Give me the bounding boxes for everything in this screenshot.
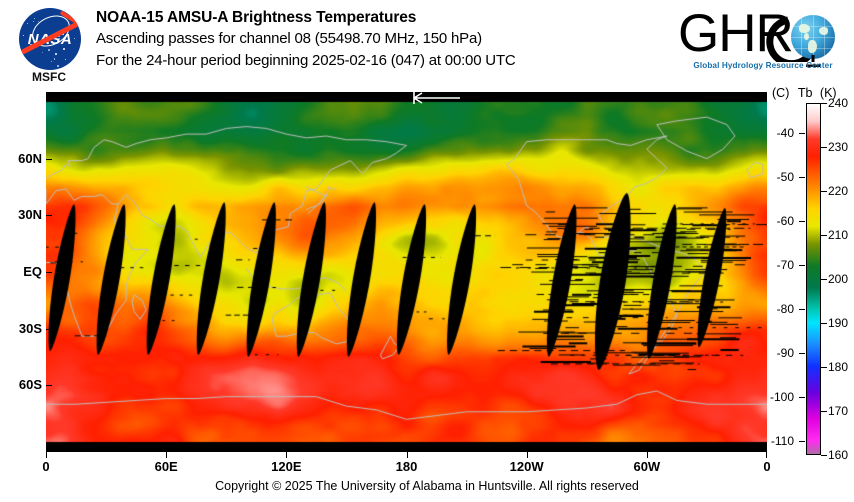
colorbar-kelvin-label: 230 [828,140,848,154]
latitude-label: 60N [0,151,42,166]
longitude-label: 120W [510,459,544,474]
title-subtitle-channel: Ascending passes for channel 08 (55498.7… [96,28,656,50]
colorbar-kelvin-tick [821,103,827,104]
colorbar-celsius-tick [799,265,805,266]
colorbar-celsius-label: -40 [777,126,794,140]
colorbar-celsius-tick [799,353,805,354]
colorbar-kelvin-label: 220 [828,184,848,198]
colorbar-celsius-unit: (C) [772,86,789,100]
longitude-tick [766,452,767,458]
ghrc-logo: GHR Global Hydrology Resource Center [676,4,846,82]
msfc-label: MSFC [13,70,85,84]
colorbar-kelvin-tick [821,411,827,412]
longitude-label: 0 [42,459,49,474]
latitude-label: 60S [0,377,42,392]
latitude-tick [46,159,52,160]
colorbar-kelvin-tick [821,235,827,236]
longitude-axis: 060E120E180120W60W0 [46,452,767,478]
colorbar-celsius-tick [799,133,805,134]
colorbar-kelvin-tick [821,367,827,368]
colorbar-kelvin-label: 170 [828,404,848,418]
longitude-tick [46,452,47,458]
longitude-label: 60E [155,459,178,474]
colorbar-celsius-tick [799,441,805,442]
colorbar-celsius-label: -80 [777,302,794,316]
colorbar-kelvin-label: 210 [828,228,848,242]
colorbar-kelvin-tick [821,279,827,280]
latitude-label: 30N [0,207,42,222]
longitude-label: 0 [763,459,770,474]
colorbar[interactable] [806,103,821,455]
latitude-tick [46,272,52,273]
colorbar-kelvin-tick [821,455,827,456]
colorbar-celsius-label: -60 [777,214,794,228]
nasa-meatball-icon: NASA [19,8,81,70]
colorbar-celsius-tick [799,177,805,178]
colorbar-celsius-label: -50 [777,170,794,184]
title-subtitle-period: For the 24-hour period beginning 2025-02… [96,50,656,72]
brightness-temperature-map[interactable] [46,92,767,452]
colorbar-celsius-tick [799,309,805,310]
left-arrow-marker-icon [408,91,464,105]
title-block: NOAA-15 AMSU-A Brightness Temperatures A… [96,8,656,72]
nasa-msfc-logo: NASA MSFC [13,6,85,84]
colorbar-celsius-label: -70 [777,258,794,272]
map-raster [46,92,767,452]
latitude-label: 30S [0,321,42,336]
colorbar-kelvin-tick [821,323,827,324]
longitude-tick [647,452,648,458]
longitude-tick [527,452,528,458]
longitude-label: 120E [271,459,301,474]
colorbar-kelvin-label: 190 [828,316,848,330]
longitude-label: 180 [396,459,418,474]
latitude-tick [46,385,52,386]
latitude-label: EQ [0,264,42,279]
longitude-label: 60W [633,459,660,474]
colorbar-variable-name: Tb [798,86,813,100]
colorbar-celsius-label: -90 [777,346,794,360]
colorbar-celsius-tick [799,221,805,222]
ghrc-subtitle: Global Hydrology Resource Center [680,61,846,70]
colorbar-kelvin-label: 160 [828,448,848,462]
longitude-tick [407,452,408,458]
longitude-tick [286,452,287,458]
colorbar-celsius-tick [799,397,805,398]
colorbar-kelvin-label: 200 [828,272,848,286]
colorbar-celsius-label: -110 [771,434,794,448]
longitude-tick [166,452,167,458]
latitude-tick [46,215,52,216]
ghrc-globe-icon [791,15,835,59]
page-title: NOAA-15 AMSU-A Brightness Temperatures [96,8,656,28]
latitude-tick [46,329,52,330]
colorbar-kelvin-label: 240 [828,96,848,110]
colorbar-kelvin-tick [821,147,827,148]
header: NASA MSFC NOAA-15 AMSU-A Brightness Temp… [0,0,854,92]
colorbar-celsius-label: -100 [770,390,794,404]
colorbar-kelvin-tick [821,191,827,192]
copyright-notice: Copyright © 2025 The University of Alaba… [0,479,854,493]
colorbar-kelvin-label: 180 [828,360,848,374]
colorbar-gradient [806,103,821,455]
